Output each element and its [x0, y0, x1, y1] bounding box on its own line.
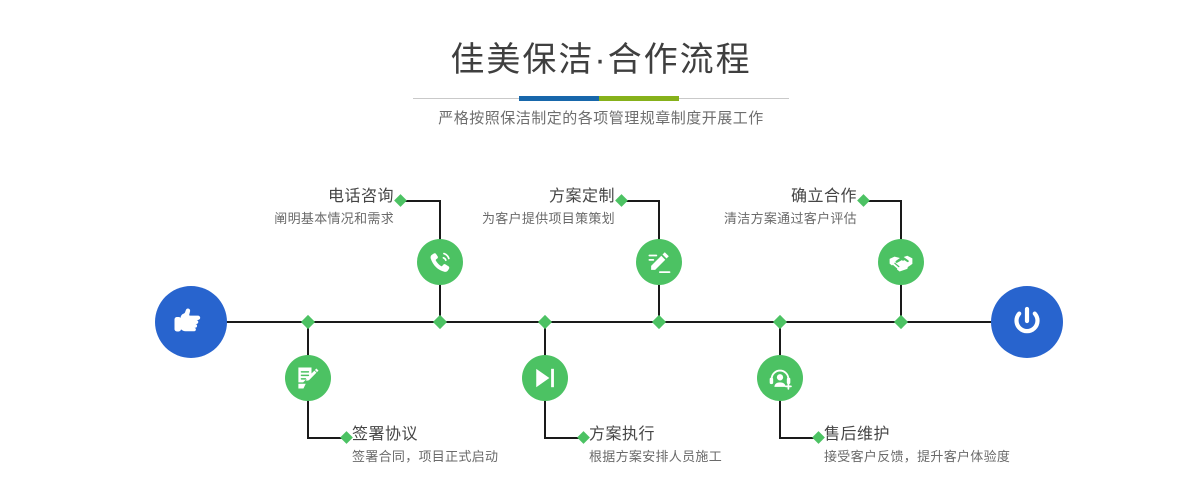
axis-diamond-step-2 [301, 315, 315, 329]
step-icon-6[interactable] [757, 355, 803, 401]
power-icon [1007, 302, 1047, 342]
connector-diamond-step-5 [857, 194, 870, 207]
step-icon-4[interactable] [522, 355, 568, 401]
pointing-hand-icon [171, 302, 211, 342]
page-subtitle: 严格按照保洁制定的各项管理规章制度开展工作 [0, 107, 1202, 131]
phone-call-icon [426, 248, 454, 276]
axis-diamond-step-3 [652, 315, 666, 329]
step-desc-5: 清洁方案通过客户评估 [602, 208, 857, 230]
step-icon-3[interactable] [636, 239, 682, 285]
step-desc-1: 阐明基本情况和需求 [136, 208, 394, 230]
step-label-6: 售后维护 接受客户反馈，提升客户体验度 [824, 424, 1154, 468]
play-execute-icon [531, 364, 559, 392]
pencil-plan-icon [645, 248, 673, 276]
headset-support-icon [766, 364, 794, 392]
step-title-5: 确立合作 [602, 186, 857, 208]
step-label-1: 电话咨询 阐明基本情况和需求 [136, 186, 394, 230]
connector-diamond-step-2 [340, 431, 353, 444]
timeline-start-endpoint [155, 286, 227, 358]
step-icon-1[interactable] [417, 239, 463, 285]
document-edit-icon [294, 364, 322, 392]
step-desc-6: 接受客户反馈，提升客户体验度 [824, 446, 1154, 468]
step-title-6: 售后维护 [824, 424, 1154, 446]
step-icon-5[interactable] [878, 239, 924, 285]
divider-segment-blue [519, 96, 599, 101]
step-title-3: 方案定制 [360, 186, 615, 208]
divider-segment-green [599, 96, 679, 101]
step-title-1: 电话咨询 [136, 186, 394, 208]
timeline-end-endpoint [991, 286, 1063, 358]
page-title: 佳美保洁·合作流程 [0, 38, 1202, 82]
axis-diamond-step-6 [773, 315, 787, 329]
process-flow-diagram: 佳美保洁·合作流程 严格按照保洁制定的各项管理规章制度开展工作 [0, 0, 1202, 502]
axis-diamond-step-4 [538, 315, 552, 329]
axis-diamond-step-1 [433, 315, 447, 329]
step-icon-2[interactable] [285, 355, 331, 401]
step-label-5: 确立合作 清洁方案通过客户评估 [602, 186, 857, 230]
title-divider [413, 96, 789, 102]
step-label-3: 方案定制 为客户提供项目策策划 [360, 186, 615, 230]
step-desc-3: 为客户提供项目策策划 [360, 208, 615, 230]
axis-diamond-step-5 [894, 315, 908, 329]
handshake-icon [887, 248, 915, 276]
